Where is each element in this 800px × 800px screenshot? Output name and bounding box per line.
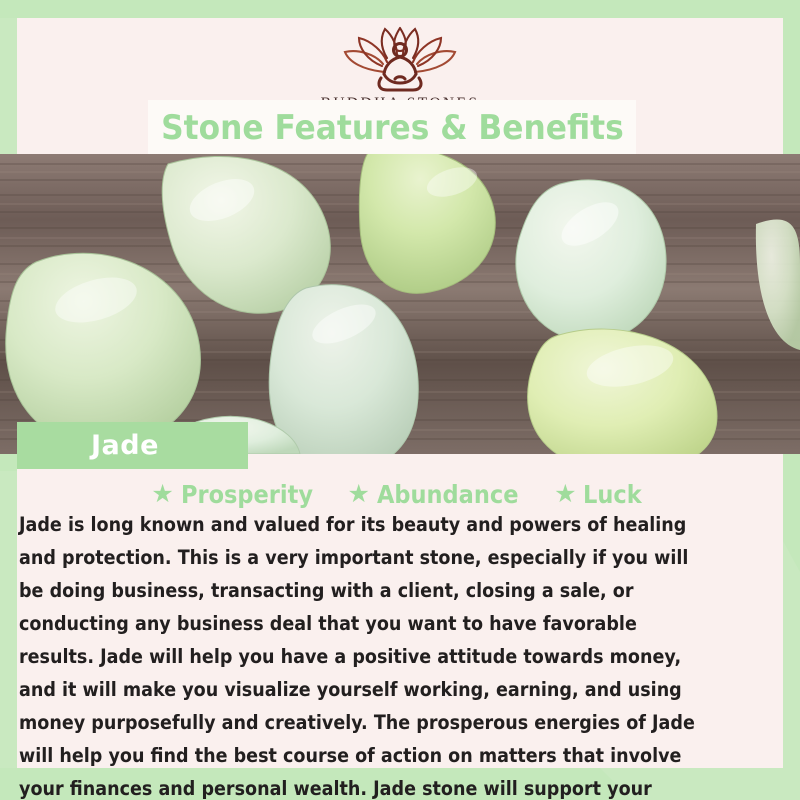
benefit-item: ★ Prosperity [151, 480, 327, 509]
lotus-meditation-icon [325, 26, 475, 94]
star-icon: ★ [347, 482, 369, 507]
benefit-label: Abundance [377, 480, 518, 509]
benefit-item: ★ Abundance [347, 480, 534, 509]
star-icon: ★ [151, 482, 173, 507]
page-title: Stone Features & Benefits [161, 108, 624, 148]
stone-name: Jade [91, 430, 159, 461]
jade-stones-image [0, 154, 800, 454]
stone-name-bar: Jade [17, 422, 248, 469]
benefits-row: ★ Prosperity ★ Abundance ★ Luck [0, 477, 800, 511]
benefit-item: ★ Luck [554, 480, 649, 509]
star-icon: ★ [554, 482, 576, 507]
decor-top-band [0, 0, 800, 18]
benefit-label: Luck [583, 480, 642, 509]
section-title-banner: Stone Features & Benefits [148, 100, 636, 156]
benefit-label: Prosperity [181, 480, 313, 509]
stone-photo [0, 154, 800, 454]
stone-description: Jade is long known and valued for its be… [19, 508, 714, 800]
stone-info-card: BUDDHA STONES Stone Features & Benefits [0, 0, 800, 800]
